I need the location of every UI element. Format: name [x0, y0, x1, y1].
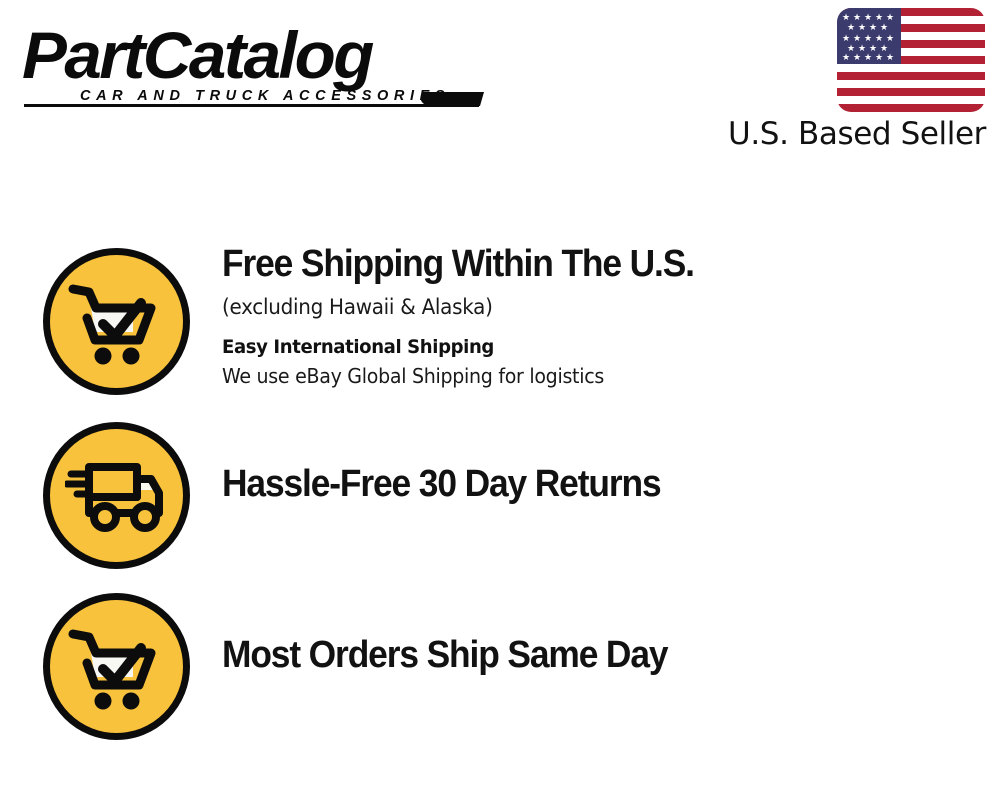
feature-title: Hassle-Free 30 Day Returns	[222, 462, 938, 506]
seller-badge: ★ ★ ★ ★ ★ ★ ★ ★ ★ ★ ★ ★ ★ ★ ★ ★ ★ ★ ★ ★	[837, 8, 985, 112]
feature-row: Free Shipping Within The U.S. (excluding…	[0, 232, 1000, 412]
feature-secondary-title: Easy International Shipping	[222, 334, 954, 360]
page-header: PartCatalog CAR AND TRUCK ACCESSORIES ★ …	[0, 0, 1000, 175]
brand-logo-underline	[24, 104, 479, 107]
shopping-cart-check-icon	[43, 248, 190, 395]
shopping-cart-check-icon	[43, 593, 190, 740]
feature-title: Most Orders Ship Same Day	[222, 633, 938, 677]
feature-row: Hassle-Free 30 Day Returns	[0, 414, 1000, 574]
feature-row: Most Orders Ship Same Day	[0, 585, 1000, 745]
feature-text-block: Free Shipping Within The U.S. (excluding…	[222, 242, 992, 390]
feature-text-block: Hassle-Free 30 Day Returns	[222, 462, 992, 506]
feature-text-block: Most Orders Ship Same Day	[222, 633, 992, 677]
brand-logo-wordmark: PartCatalog	[22, 24, 501, 86]
feature-subtitle: (excluding Hawaii & Alaska)	[222, 292, 954, 322]
feature-title: Free Shipping Within The U.S.	[222, 242, 938, 286]
us-flag-icon: ★ ★ ★ ★ ★ ★ ★ ★ ★ ★ ★ ★ ★ ★ ★ ★ ★ ★ ★ ★	[837, 8, 985, 112]
us-flag-canton: ★ ★ ★ ★ ★ ★ ★ ★ ★ ★ ★ ★ ★ ★ ★ ★ ★ ★ ★ ★	[837, 8, 901, 64]
delivery-truck-icon	[43, 422, 190, 569]
seller-badge-label: U.S. Based Seller	[728, 116, 986, 152]
feature-secondary-subtitle: We use eBay Global Shipping for logistic…	[222, 362, 954, 390]
brand-logo-swoosh-icon	[418, 92, 484, 106]
